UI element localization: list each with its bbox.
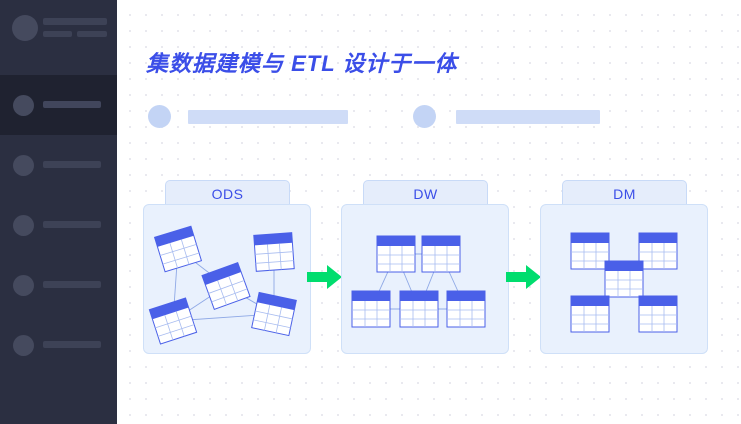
- sidebar-header-bar-primary: [43, 18, 107, 25]
- table-icon: [571, 296, 609, 332]
- circle-placeholder-icon: [13, 95, 34, 116]
- avatar: [12, 15, 38, 41]
- sidebar-header-bar-secondary-left: [43, 31, 72, 37]
- subtitle-bar: [456, 110, 600, 124]
- sidebar: [0, 0, 117, 424]
- slide-root: 集数据建模与 ETL 设计于一体 ODS: [0, 0, 741, 424]
- stage-diagram-dm: [540, 204, 708, 354]
- sidebar-header-bar-secondary-right: [77, 31, 107, 37]
- sidebar-item-label: [43, 161, 101, 168]
- table-icon: [571, 233, 609, 269]
- stage-tab-label: ODS: [212, 186, 244, 202]
- table-icon: [149, 298, 196, 344]
- sidebar-item-nav-3[interactable]: [0, 195, 117, 255]
- table-icon: [252, 292, 297, 335]
- stage-panel-dw[interactable]: DW: [341, 180, 509, 354]
- table-icon: [254, 233, 294, 272]
- circle-placeholder-icon: [13, 155, 34, 176]
- table-icon: [422, 236, 460, 272]
- circle-placeholder-icon: [148, 105, 171, 128]
- sidebar-header[interactable]: [0, 0, 117, 75]
- table-icon-center: [605, 261, 643, 297]
- sidebar-item-nav-5[interactable]: [0, 315, 117, 375]
- stage-tab-dm[interactable]: DM: [562, 180, 687, 206]
- sidebar-item-label: [43, 101, 101, 108]
- stage-panel-dm[interactable]: DM: [540, 180, 708, 354]
- circle-placeholder-icon: [13, 335, 34, 356]
- arrow-right-icon: [506, 264, 542, 290]
- sidebar-item-label: [43, 341, 101, 348]
- sidebar-item-label: [43, 221, 101, 228]
- stage-tab-ods[interactable]: ODS: [165, 180, 290, 206]
- circle-placeholder-icon: [13, 215, 34, 236]
- table-icon: [155, 226, 202, 272]
- sidebar-item-nav-2[interactable]: [0, 135, 117, 195]
- page-title: 集数据建模与 ETL 设计于一体: [146, 46, 457, 78]
- table-icon: [202, 263, 250, 310]
- stage-panel-ods[interactable]: ODS: [143, 180, 311, 354]
- stage-diagram-ods: [143, 204, 311, 354]
- circle-placeholder-icon: [13, 275, 34, 296]
- stage-tab-label: DM: [613, 186, 636, 202]
- subtitle-bar: [188, 110, 348, 124]
- stage-tab-dw[interactable]: DW: [363, 180, 488, 206]
- sidebar-item-nav-1[interactable]: [0, 75, 117, 135]
- arrow-right-icon: [307, 264, 343, 290]
- stage-diagram-dw: [341, 204, 509, 354]
- table-icon: [377, 236, 415, 272]
- circle-placeholder-icon: [413, 105, 436, 128]
- table-icon: [400, 291, 438, 327]
- sidebar-item-nav-4[interactable]: [0, 255, 117, 315]
- stage-tab-label: DW: [413, 186, 437, 202]
- table-icon: [639, 296, 677, 332]
- table-icon: [639, 233, 677, 269]
- table-icon: [447, 291, 485, 327]
- table-icon: [352, 291, 390, 327]
- sidebar-item-label: [43, 281, 101, 288]
